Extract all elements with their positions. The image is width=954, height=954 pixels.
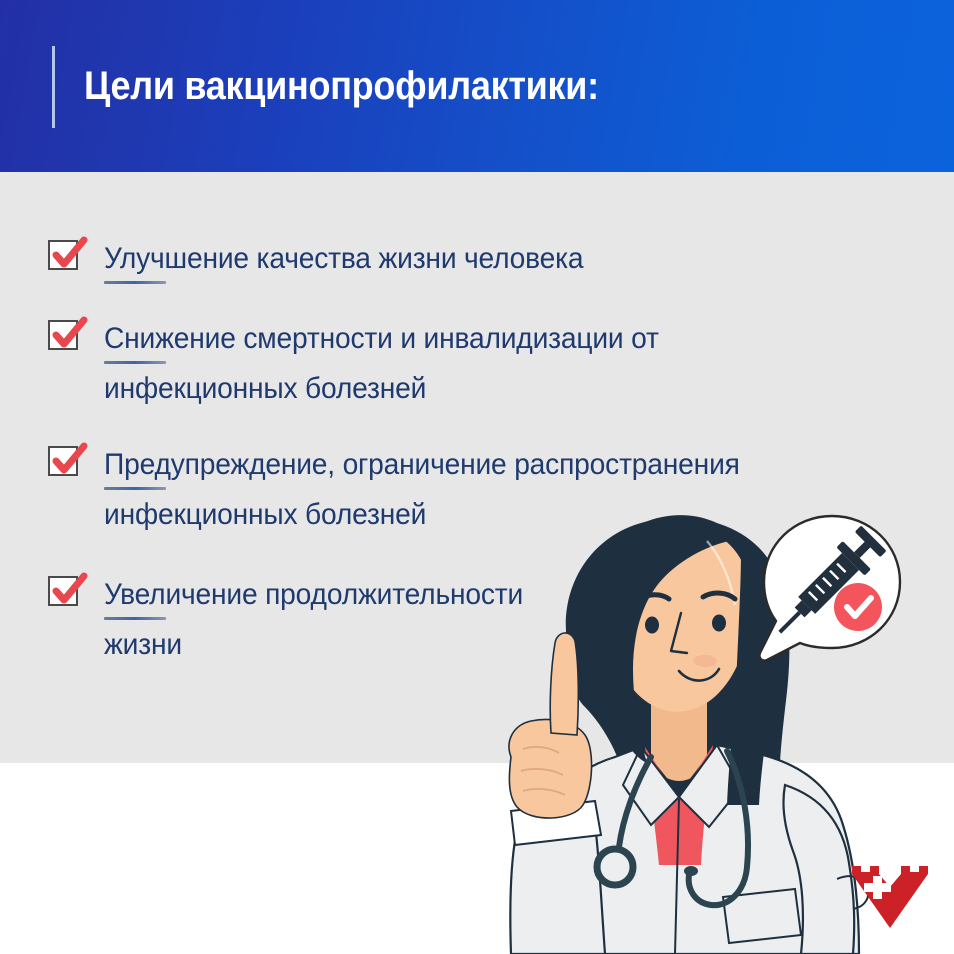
checkmark-icon <box>47 569 91 613</box>
organization-logo <box>848 856 932 934</box>
eye-right <box>712 615 726 632</box>
checkbox-checked[interactable] <box>48 576 78 606</box>
list-item-label: Улучшение качества жизни человека <box>104 234 950 284</box>
checkmark-icon <box>47 233 91 277</box>
approved-badge <box>834 583 882 631</box>
page-title: Цели вакцинопрофилактики: <box>84 60 822 112</box>
poster-root: Цели вакцинопрофилактики: Улучшение каче… <box>0 0 954 954</box>
checkmark-icon <box>47 313 91 357</box>
list-item-label: Снижение смертности и инвалидизации от и… <box>104 314 950 414</box>
heart-shape <box>852 866 928 928</box>
list-item-underline <box>104 361 166 364</box>
stethoscope-earpiece <box>684 866 698 876</box>
header-accent-line <box>52 46 55 128</box>
index-finger <box>550 633 578 735</box>
header-banner: Цели вакцинопрофилактики: <box>0 0 954 172</box>
checkbox-checked[interactable] <box>48 320 78 350</box>
speech-bubble <box>752 512 912 667</box>
checkbox-checked[interactable] <box>48 446 78 476</box>
list-item-underline <box>104 281 166 284</box>
list-item-underline <box>104 487 166 490</box>
hand-fist <box>509 720 592 819</box>
checkmark-icon <box>47 439 91 483</box>
checkbox-checked[interactable] <box>48 240 78 270</box>
eye-left <box>645 617 659 634</box>
cheek-blush <box>693 655 717 667</box>
list-item-underline <box>104 617 166 620</box>
